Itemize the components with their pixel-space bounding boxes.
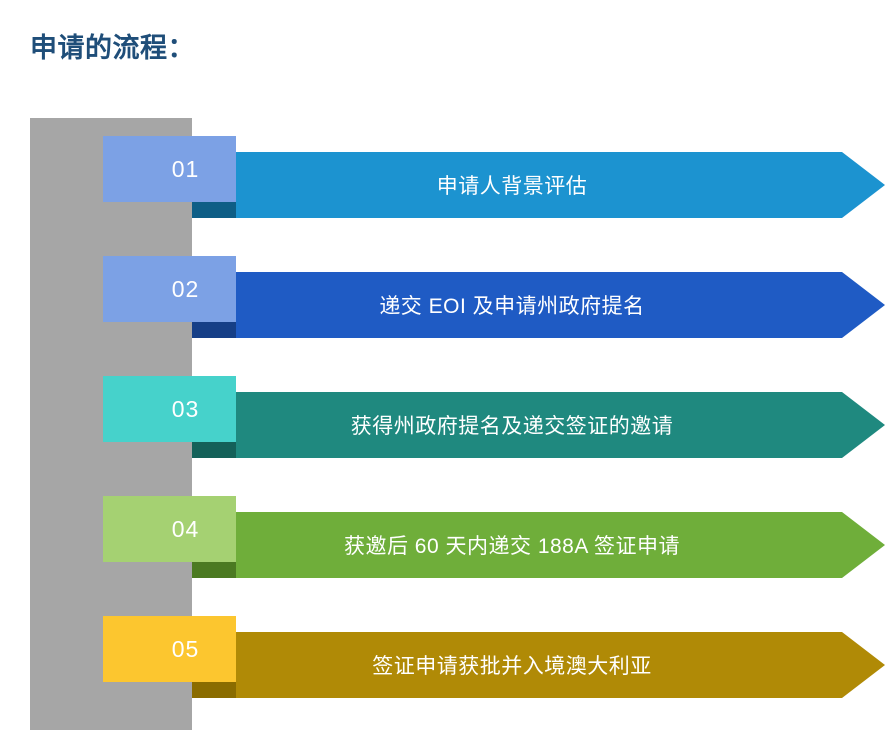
step-number-box-03[interactable]: 03 — [103, 376, 236, 442]
step-label-02: 递交 EOI 及申请州政府提名 — [192, 272, 832, 338]
step-number-box-02[interactable]: 02 — [103, 256, 236, 322]
step-band-02[interactable]: 递交 EOI 及申请州政府提名 — [192, 272, 885, 338]
step-number-text-05: 05 — [172, 636, 200, 663]
step-number-text-01: 01 — [172, 156, 200, 183]
step-fold-shadow-01 — [192, 202, 236, 218]
flow-step-01[interactable]: 申请人背景评估01 — [0, 136, 896, 220]
step-band-01[interactable]: 申请人背景评估 — [192, 152, 885, 218]
step-fold-shadow-05 — [192, 682, 236, 698]
flow-step-02[interactable]: 递交 EOI 及申请州政府提名02 — [0, 256, 896, 340]
flow-step-04[interactable]: 获邀后 60 天内递交 188A 签证申请04 — [0, 496, 896, 580]
step-number-text-03: 03 — [172, 396, 200, 423]
step-number-text-02: 02 — [172, 276, 200, 303]
process-flow-diagram: 申请人背景评估01递交 EOI 及申请州政府提名02获得州政府提名及递交签证的邀… — [0, 0, 896, 752]
step-fold-shadow-04 — [192, 562, 236, 578]
step-band-04[interactable]: 获邀后 60 天内递交 188A 签证申请 — [192, 512, 885, 578]
flow-step-05[interactable]: 签证申请获批并入境澳大利亚05 — [0, 616, 896, 700]
step-band-05[interactable]: 签证申请获批并入境澳大利亚 — [192, 632, 885, 698]
step-label-04: 获邀后 60 天内递交 188A 签证申请 — [192, 512, 832, 578]
step-fold-shadow-02 — [192, 322, 236, 338]
step-number-box-04[interactable]: 04 — [103, 496, 236, 562]
flow-step-03[interactable]: 获得州政府提名及递交签证的邀请03 — [0, 376, 896, 460]
step-number-box-05[interactable]: 05 — [103, 616, 236, 682]
step-number-text-04: 04 — [172, 516, 200, 543]
step-number-box-01[interactable]: 01 — [103, 136, 236, 202]
step-label-01: 申请人背景评估 — [192, 152, 832, 218]
step-label-05: 签证申请获批并入境澳大利亚 — [192, 632, 832, 698]
step-fold-shadow-03 — [192, 442, 236, 458]
step-band-03[interactable]: 获得州政府提名及递交签证的邀请 — [192, 392, 885, 458]
step-label-03: 获得州政府提名及递交签证的邀请 — [192, 392, 832, 458]
